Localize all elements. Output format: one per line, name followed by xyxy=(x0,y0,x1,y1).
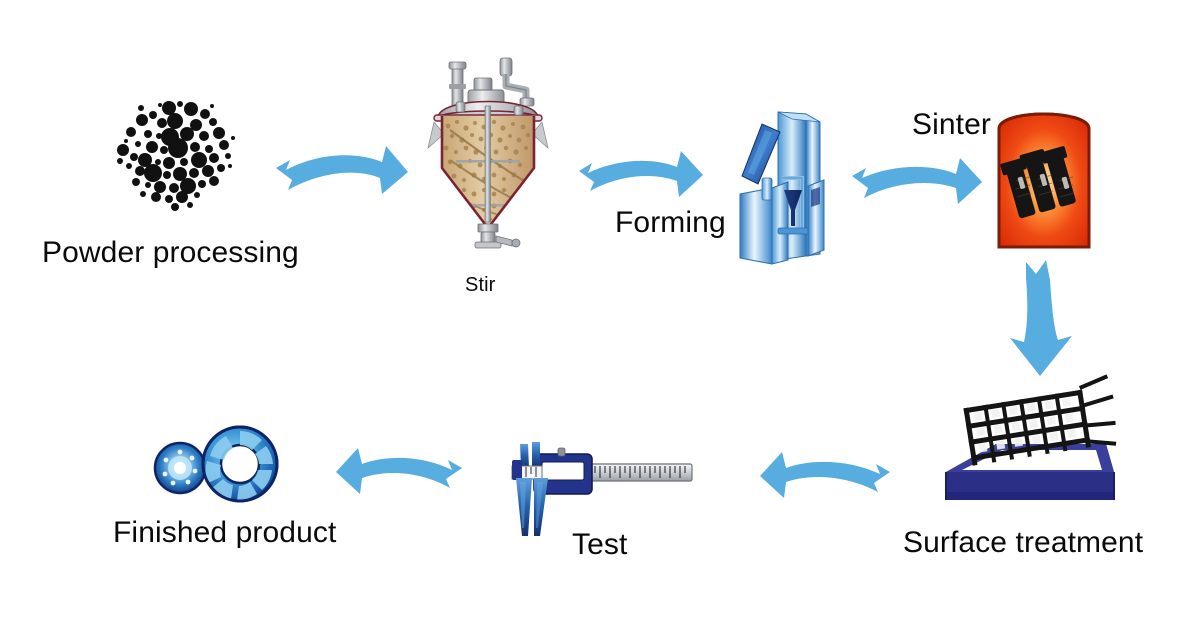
arrow-surface-to-test xyxy=(752,446,894,508)
step-label-test: Test xyxy=(572,530,627,560)
mixing-vessel-icon xyxy=(428,56,548,260)
arrow-forming-to-sinter xyxy=(848,152,986,214)
powder-particles-icon xyxy=(112,100,242,212)
sintering-furnace-icon xyxy=(996,103,1092,251)
process-flow-diagram: Powder processing xyxy=(0,0,1200,628)
arrow-sinter-to-surface xyxy=(1002,258,1078,380)
arrow-powder-to-stir xyxy=(272,138,412,210)
step-label-stir: Stir xyxy=(465,275,495,295)
bearing-rings-icon xyxy=(152,420,282,508)
step-label-forming: Forming xyxy=(615,208,726,238)
step-label-surface-treatment: Surface treatment xyxy=(903,528,1143,558)
arrow-stir-to-forming xyxy=(575,145,707,207)
plating-tank-icon xyxy=(928,392,1120,514)
step-label-finished-product: Finished product xyxy=(113,518,336,548)
arrow-test-to-finished xyxy=(330,442,466,504)
step-label-powder-processing: Powder processing xyxy=(42,238,299,268)
forming-press-icon xyxy=(732,108,830,268)
step-label-sinter: Sinter xyxy=(912,110,991,140)
